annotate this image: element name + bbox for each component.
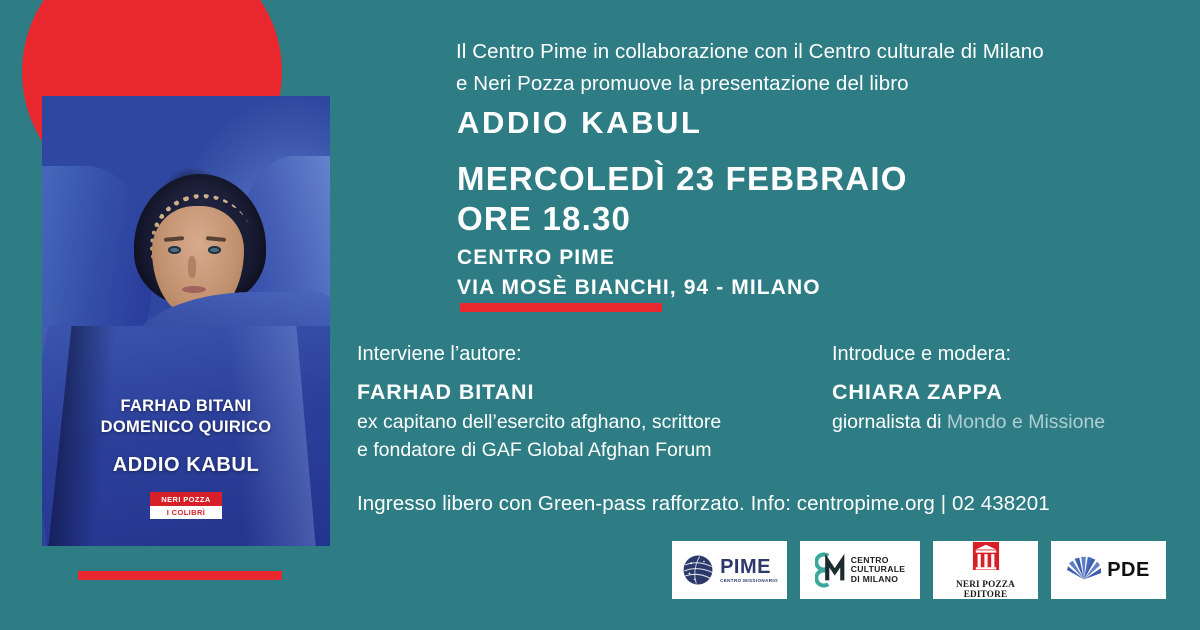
event-poster: FARHAD BITANI DOMENICO QUIRICO ADDIO KAB… [0,0,1200,630]
headline-book-title: ADDIO KABUL [457,105,703,141]
neri-pozza-temple-icon [972,541,1000,571]
intro-line-2: e Neri Pozza promuove la presentazione d… [456,68,1168,100]
speaker-left-bio-line-2: e fondatore di GAF Global Afghan Forum [357,437,787,465]
speaker-left-name: FARHAD BITANI [357,380,787,405]
intro-line-1: Il Centro Pime in collaborazione con il … [456,36,1168,68]
speaker-left-bio-line-1: ex capitano dell’esercito afghano, scrit… [357,409,787,437]
info-line: Ingresso libero con Green-pass rafforzat… [357,492,1050,516]
speaker-left-role: Interviene l’autore: [357,340,787,368]
pde-fan-icon [1067,554,1101,586]
speaker-left-bio: ex capitano dell’esercito afghano, scrit… [357,409,787,464]
speaker-right-bio: giornalista di Mondo e Missione [832,409,1172,437]
intro-text: Il Centro Pime in collaborazione con il … [456,36,1168,100]
neri-pozza-logo-text: NERI POZZA EDITORE [941,579,1030,599]
cmc-monogram-icon [815,552,847,588]
logo-row: PIME CENTRO MISSIONARIO CENTRO CULTURALE [672,541,1166,599]
speaker-right-name: CHIARA ZAPPA [832,380,1172,405]
logo-centro-culturale-milano: CENTRO CULTURALE DI MILANO [800,541,920,599]
logo-neri-pozza: NERI POZZA EDITORE [933,541,1038,599]
pde-logo-text: PDE [1107,559,1150,582]
speaker-right-bio-prefix: giornalista di [832,411,947,433]
red-bar-divider [460,303,662,312]
pime-logo-text: PIME [720,557,778,577]
speaker-right-role: Introduce e modera: [832,340,1172,368]
logo-pde: PDE [1051,541,1166,599]
logo-pime: PIME CENTRO MISSIONARIO [672,541,787,599]
event-date: MERCOLEDÌ 23 FEBBRAIO [457,157,908,201]
speaker-column-left: Interviene l’autore: FARHAD BITANI ex ca… [357,340,787,464]
speaker-column-right: Introduce e modera: CHIARA ZAPPA giornal… [832,340,1172,437]
poster-content: Il Centro Pime in collaborazione con il … [0,0,1200,630]
event-venue: CENTRO PIME VIA MOSÈ BIANCHI, 94 - MILAN… [457,243,821,304]
pime-globe-icon [681,553,715,587]
speaker-right-bio-publication: Mondo e Missione [947,411,1105,433]
cmc-line-3: DI MILANO [851,575,906,585]
venue-address: VIA MOSÈ BIANCHI, 94 - MILANO [457,273,821,303]
venue-name: CENTRO PIME [457,243,821,273]
event-time: ORE 18.30 [457,200,631,238]
pime-logo-subtext: CENTRO MISSIONARIO [720,579,778,584]
